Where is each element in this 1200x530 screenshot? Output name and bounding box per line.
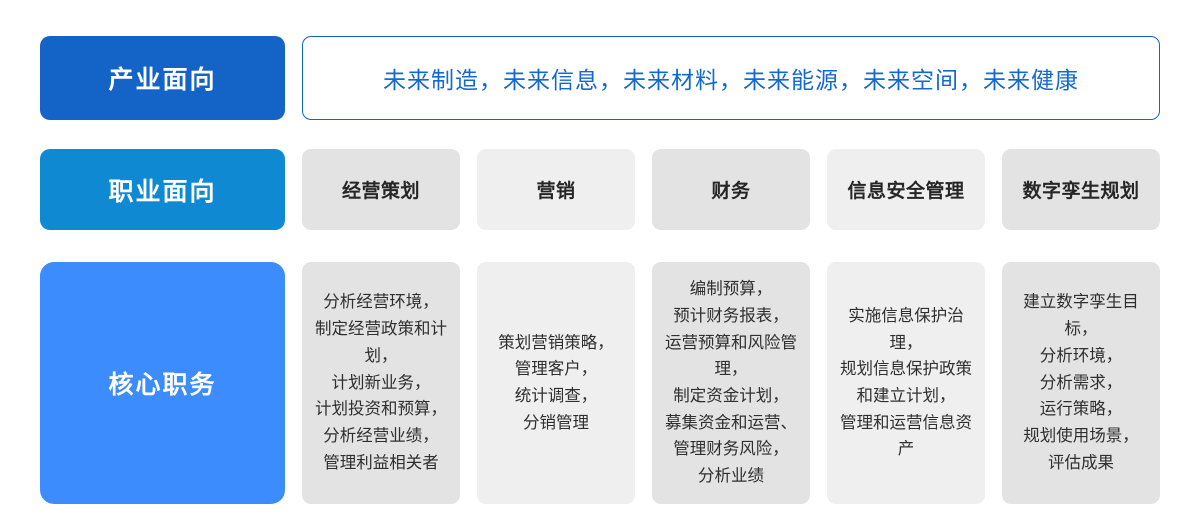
duty-cell: 分析经营环境， 制定经营政策和计划， 计划新业务， 计划投资和预算， 分析经营业… bbox=[302, 262, 460, 504]
job-row-label: 职业面向 bbox=[40, 149, 285, 230]
duty-cell: 建立数字孪生目标， 分析环境， 分析需求， 运行策略， 规划使用场景， 评估成果 bbox=[1002, 262, 1160, 504]
duty-row: 核心职务 分析经营环境， 制定经营政策和计划， 计划新业务， 计划投资和预算， … bbox=[40, 262, 1160, 504]
duty-row-label: 核心职务 bbox=[40, 262, 285, 504]
industry-content-text: 未来制造，未来信息，未来材料，未来能源，未来空间，未来健康 bbox=[383, 61, 1079, 95]
column-gap bbox=[285, 262, 302, 504]
duty-cell-text: 实施信息保护治理， 规划信息保护政策和建立计划， 管理和运营信息资产 bbox=[835, 303, 977, 463]
duty-cell-text: 分析经营环境， 制定经营政策和计划， 计划新业务， 计划投资和预算， 分析经营业… bbox=[310, 289, 452, 476]
duty-cell: 策划营销策略， 管理客户， 统计调查， 分销管理 bbox=[477, 262, 635, 504]
job-column-header: 财务 bbox=[652, 149, 810, 230]
industry-row-label: 产业面向 bbox=[40, 36, 285, 120]
duty-cell-text: 建立数字孪生目标， 分析环境， 分析需求， 运行策略， 规划使用场景， 评估成果 bbox=[1010, 289, 1152, 476]
duty-cell-text: 策划营销策略， 管理客户， 统计调查， 分销管理 bbox=[498, 330, 614, 437]
industry-content-box: 未来制造，未来信息，未来材料，未来能源，未来空间，未来健康 bbox=[302, 36, 1160, 120]
job-row: 职业面向 经营策划 营销 财务 信息安全管理 数字孪生规划 bbox=[40, 149, 1160, 230]
row-spacer bbox=[40, 230, 1160, 262]
column-gap bbox=[285, 149, 302, 230]
row-spacer bbox=[40, 120, 1160, 149]
competency-matrix-board: 产业面向 未来制造，未来信息，未来材料，未来能源，未来空间，未来健康 职业面向 … bbox=[0, 0, 1200, 530]
industry-row: 产业面向 未来制造，未来信息，未来材料，未来能源，未来空间，未来健康 bbox=[40, 36, 1160, 120]
duty-cell: 编制预算， 预计财务报表， 运营预算和风险管理， 制定资金计划， 募集资金和运营… bbox=[652, 262, 810, 504]
duty-columns: 分析经营环境， 制定经营政策和计划， 计划新业务， 计划投资和预算， 分析经营业… bbox=[302, 262, 1160, 504]
job-column-header: 营销 bbox=[477, 149, 635, 230]
job-column-header: 信息安全管理 bbox=[827, 149, 985, 230]
column-gap bbox=[285, 36, 302, 120]
job-column-header: 数字孪生规划 bbox=[1002, 149, 1160, 230]
job-columns: 经营策划 营销 财务 信息安全管理 数字孪生规划 bbox=[302, 149, 1160, 230]
duty-cell-text: 编制预算， 预计财务报表， 运营预算和风险管理， 制定资金计划， 募集资金和运营… bbox=[660, 276, 802, 490]
job-column-header: 经营策划 bbox=[302, 149, 460, 230]
duty-cell: 实施信息保护治理， 规划信息保护政策和建立计划， 管理和运营信息资产 bbox=[827, 262, 985, 504]
